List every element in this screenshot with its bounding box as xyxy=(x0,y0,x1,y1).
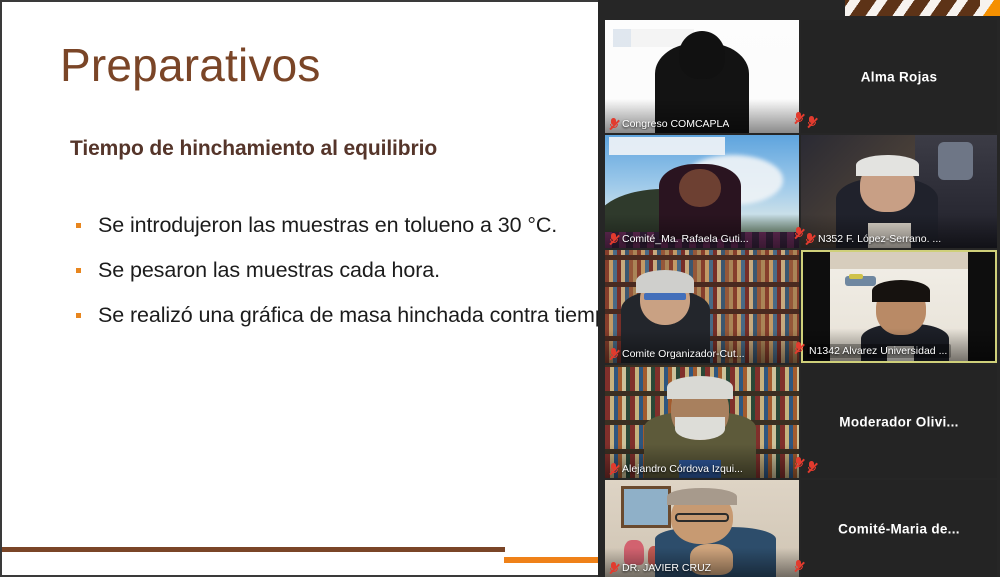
participant-name-label: Comite Organizador-Cut... xyxy=(609,348,745,360)
participant-hair xyxy=(856,155,919,175)
participant-name-label: Alejandro Córdova Izqui... xyxy=(609,463,743,475)
video-feed xyxy=(605,20,799,133)
mic-muted-icon xyxy=(609,348,618,360)
participant-tile-alvarez-active-speaker[interactable]: N1342 Alvarez Universidad ... xyxy=(801,250,997,363)
mic-muted-icon xyxy=(794,342,803,354)
participant-head xyxy=(679,169,722,207)
participant-tile-lopez-serrano[interactable]: N352 F. López-Serrano. ... xyxy=(801,135,997,248)
diagonal-stripes-decor xyxy=(845,0,1000,16)
slide-decor-rule-brown xyxy=(2,547,505,552)
slide-bullet-list: Se introdujeron las muestras en tolueno … xyxy=(70,210,598,346)
participant-name-text: Moderador Olivi... xyxy=(801,414,997,429)
bullet-square-icon xyxy=(76,223,81,228)
participant-name-label: N1342 Alvarez Universidad ... xyxy=(807,344,951,358)
participant-hair xyxy=(872,280,930,302)
participant-tile-cordova[interactable]: Alejandro Córdova Izqui... xyxy=(605,365,799,478)
background-ceiling xyxy=(830,252,968,269)
slide-bullet-item: Se pesaron las muestras cada hora. xyxy=(70,255,598,286)
participant-name-label: Comité_Ma. Rafaela Guti... xyxy=(609,233,749,245)
participant-tile-moderador[interactable]: Moderador Olivi... xyxy=(801,365,997,478)
participant-hair xyxy=(667,376,733,399)
background-lamp xyxy=(938,142,973,180)
presentation-slide: Preparativos Tiempo de hinchamiento al e… xyxy=(0,0,598,577)
event-banner-overlay xyxy=(609,137,725,155)
video-feed xyxy=(605,365,799,478)
participant-name-text: Alejandro Córdova Izqui... xyxy=(622,463,743,475)
participant-tile-rafaela[interactable]: Comité_Ma. Rafaela Guti... xyxy=(605,135,799,248)
participant-name-text: Comité_Ma. Rafaela Guti... xyxy=(622,233,749,245)
mic-muted-icon xyxy=(794,227,803,239)
orange-stripe-accent xyxy=(980,0,1000,16)
slide-content-area: Preparativos Tiempo de hinchamiento al e… xyxy=(2,2,598,575)
participant-name-text: Comité-Maria de... xyxy=(801,521,997,536)
bullet-square-icon xyxy=(76,268,81,273)
slide-bullet-text: Se realizó una gráfica de masa hinchada … xyxy=(98,303,598,327)
participant-name-text: Alma Rojas xyxy=(801,69,997,84)
slide-decor-rule-orange xyxy=(504,557,598,563)
participant-name-label: N352 F. López-Serrano. ... xyxy=(805,233,941,245)
video-conference-panel: Congreso COMCAPLA Alma Rojas xyxy=(598,0,1000,577)
slide-bullet-item: Se introdujeron las muestras en tolueno … xyxy=(70,210,598,241)
participant-grid: Congreso COMCAPLA Alma Rojas xyxy=(598,16,1000,577)
participant-name-text: N1342 Alvarez Universidad ... xyxy=(809,345,947,357)
participant-name-text: Congreso COMCAPLA xyxy=(622,118,729,130)
participant-beard xyxy=(675,417,725,440)
mic-muted-icon xyxy=(609,118,618,130)
participant-tile-alma-rojas[interactable]: Alma Rojas xyxy=(801,20,997,133)
participant-hair xyxy=(636,270,694,293)
mic-muted-icon xyxy=(609,233,618,245)
mic-muted-icon xyxy=(805,233,814,245)
mic-muted-icon xyxy=(609,562,618,574)
mic-muted-icon xyxy=(794,457,803,469)
participant-name-text: Comite Organizador-Cut... xyxy=(622,348,745,360)
bullet-square-icon xyxy=(76,313,81,318)
slide-bullet-text: Se introdujeron las muestras en tolueno … xyxy=(98,213,557,237)
mic-muted-icon xyxy=(794,560,803,572)
mic-muted-icon xyxy=(807,461,816,473)
slide-bullet-text: Se pesaron las muestras cada hora. xyxy=(98,258,440,282)
participant-tile-comite-organizador[interactable]: Comite Organizador-Cut... xyxy=(605,250,799,363)
mic-muted-icon xyxy=(807,116,816,128)
slide-subtitle: Tiempo de hinchamiento al equilibrio xyxy=(70,137,437,161)
participant-head xyxy=(679,31,726,78)
participant-tile-comite-maria[interactable]: Comité-Maria de... xyxy=(801,480,997,577)
mic-muted-icon xyxy=(609,463,618,475)
participant-tile-congreso[interactable]: Congreso COMCAPLA xyxy=(605,20,799,133)
participant-tile-javier-cruz[interactable]: DR. JAVIER CRUZ xyxy=(605,480,799,577)
background-shelf-object xyxy=(849,274,862,279)
video-feed xyxy=(605,250,799,363)
video-feed xyxy=(605,135,799,248)
slide-bullet-item: Se realizó una gráfica de masa hinchada … xyxy=(70,300,598,331)
background-picture-frame xyxy=(621,486,671,529)
participant-name-label: Congreso COMCAPLA xyxy=(609,118,729,130)
video-feed xyxy=(801,135,997,248)
slide-theme-stripe-banner xyxy=(845,0,1000,16)
slide-title: Preparativos xyxy=(60,40,321,91)
participant-glasses xyxy=(644,293,687,300)
participant-name-text: N352 F. López-Serrano. ... xyxy=(818,233,941,245)
participant-name-text: DR. JAVIER CRUZ xyxy=(622,562,711,574)
mic-muted-icon xyxy=(794,112,803,124)
participant-hair xyxy=(667,488,737,505)
screen-root: Preparativos Tiempo de hinchamiento al e… xyxy=(0,0,1000,577)
participant-name-label: DR. JAVIER CRUZ xyxy=(609,562,711,574)
participant-glasses xyxy=(675,513,729,522)
